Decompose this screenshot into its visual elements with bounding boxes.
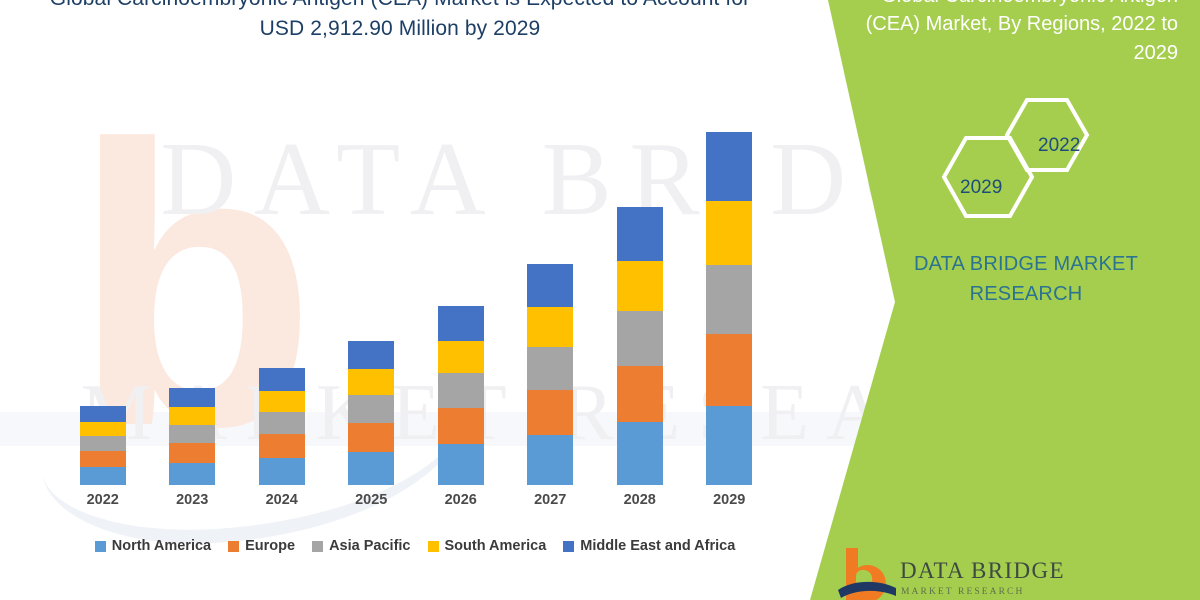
- logo-tagline: MARKET RESEARCH: [901, 587, 1024, 597]
- bar-segment[interactable]: [348, 452, 394, 485]
- legend-label: South America: [445, 538, 547, 554]
- bar-segment[interactable]: [617, 366, 663, 423]
- x-axis-tick: 2027: [520, 492, 580, 508]
- bar-segment[interactable]: [617, 261, 663, 311]
- bar-segment[interactable]: [438, 408, 484, 444]
- bar-segment[interactable]: [80, 467, 126, 485]
- bar-column[interactable]: [80, 406, 126, 485]
- bar-segment[interactable]: [348, 395, 394, 423]
- bar-segment[interactable]: [706, 265, 752, 334]
- chart-area: Global Carcinoembryonic Antigen (CEA) Ma…: [0, 0, 800, 600]
- bar-segment[interactable]: [706, 201, 752, 264]
- bar-segment[interactable]: [80, 451, 126, 467]
- x-axis-tick: 2028: [610, 492, 670, 508]
- bar-segment[interactable]: [527, 347, 573, 390]
- bar-segment[interactable]: [259, 434, 305, 458]
- stacked-bar-plot: [58, 110, 774, 485]
- panel-brand-text: DATA BRIDGE MARKET RESEARCH: [876, 249, 1176, 309]
- legend-label: Middle East and Africa: [580, 538, 735, 554]
- x-axis-tick: 2022: [73, 492, 133, 508]
- bar-column[interactable]: [527, 264, 573, 485]
- legend-item[interactable]: South America: [428, 538, 547, 554]
- bar-segment[interactable]: [259, 458, 305, 485]
- legend-label: North America: [112, 538, 211, 554]
- panel-title: Global Carcinoembryonic Antigen (CEA) Ma…: [848, 0, 1178, 67]
- bar-segment[interactable]: [259, 412, 305, 435]
- bar-segment[interactable]: [527, 307, 573, 347]
- hexagon-label-2022: 2022: [1038, 135, 1080, 157]
- bar-segment[interactable]: [527, 264, 573, 307]
- bar-segment[interactable]: [348, 341, 394, 369]
- hexagon-outlines-icon: [924, 92, 1124, 222]
- legend-swatch-icon: [95, 541, 106, 552]
- bar-segment[interactable]: [348, 423, 394, 452]
- x-axis-tick: 2026: [431, 492, 491, 508]
- bar-segment[interactable]: [80, 406, 126, 422]
- x-axis-labels: 20222023202420252026202720282029: [58, 492, 774, 516]
- bridge-b-mark-icon: [838, 546, 898, 600]
- bar-column[interactable]: [169, 388, 215, 485]
- bar-segment[interactable]: [617, 422, 663, 485]
- company-logo: DATA BRIDGE MARKET RESEARCH: [838, 546, 1088, 600]
- bar-segment[interactable]: [169, 407, 215, 424]
- infographic-root: b DATA BRIDGE MARKET RESEARCH Global Car…: [0, 0, 1200, 600]
- legend-item[interactable]: Asia Pacific: [312, 538, 410, 554]
- legend-item[interactable]: North America: [95, 538, 211, 554]
- chart-legend: North AmericaEuropeAsia PacificSouth Ame…: [50, 538, 780, 554]
- bar-segment[interactable]: [438, 341, 484, 373]
- bar-segment[interactable]: [617, 207, 663, 261]
- bar-segment[interactable]: [706, 406, 752, 485]
- bar-segment[interactable]: [706, 334, 752, 406]
- x-axis-tick: 2023: [162, 492, 222, 508]
- legend-swatch-icon: [428, 541, 439, 552]
- legend-label: Europe: [245, 538, 295, 554]
- x-axis-tick: 2025: [341, 492, 401, 508]
- x-axis-tick: 2029: [699, 492, 759, 508]
- legend-swatch-icon: [312, 541, 323, 552]
- legend-item[interactable]: Europe: [228, 538, 295, 554]
- hexagon-label-2029: 2029: [960, 177, 1002, 199]
- bar-segment[interactable]: [80, 436, 126, 451]
- bar-segment[interactable]: [706, 132, 752, 201]
- legend-item[interactable]: Middle East and Africa: [563, 538, 735, 554]
- bar-segment[interactable]: [80, 422, 126, 436]
- bar-column[interactable]: [348, 341, 394, 485]
- bar-segment[interactable]: [438, 306, 484, 341]
- logo-name: DATA BRIDGE: [900, 558, 1065, 584]
- bar-column[interactable]: [438, 306, 484, 485]
- bar-column[interactable]: [706, 132, 752, 485]
- hexagon-group: 2022 2029: [924, 92, 1124, 222]
- legend-swatch-icon: [563, 541, 574, 552]
- legend-swatch-icon: [228, 541, 239, 552]
- bar-segment[interactable]: [259, 391, 305, 412]
- bar-segment[interactable]: [169, 388, 215, 407]
- bar-segment[interactable]: [348, 369, 394, 395]
- bar-segment[interactable]: [438, 444, 484, 485]
- bar-segment[interactable]: [169, 443, 215, 462]
- bar-segment[interactable]: [527, 435, 573, 485]
- bar-segment[interactable]: [169, 463, 215, 485]
- bar-column[interactable]: [617, 207, 663, 485]
- bar-segment[interactable]: [169, 425, 215, 444]
- bar-segment[interactable]: [259, 368, 305, 391]
- x-axis-tick: 2024: [252, 492, 312, 508]
- bar-segment[interactable]: [527, 390, 573, 435]
- bar-segment[interactable]: [438, 373, 484, 408]
- legend-label: Asia Pacific: [329, 538, 410, 554]
- bar-segment[interactable]: [617, 311, 663, 366]
- chart-title: Global Carcinoembryonic Antigen (CEA) Ma…: [40, 0, 760, 44]
- bar-column[interactable]: [259, 368, 305, 485]
